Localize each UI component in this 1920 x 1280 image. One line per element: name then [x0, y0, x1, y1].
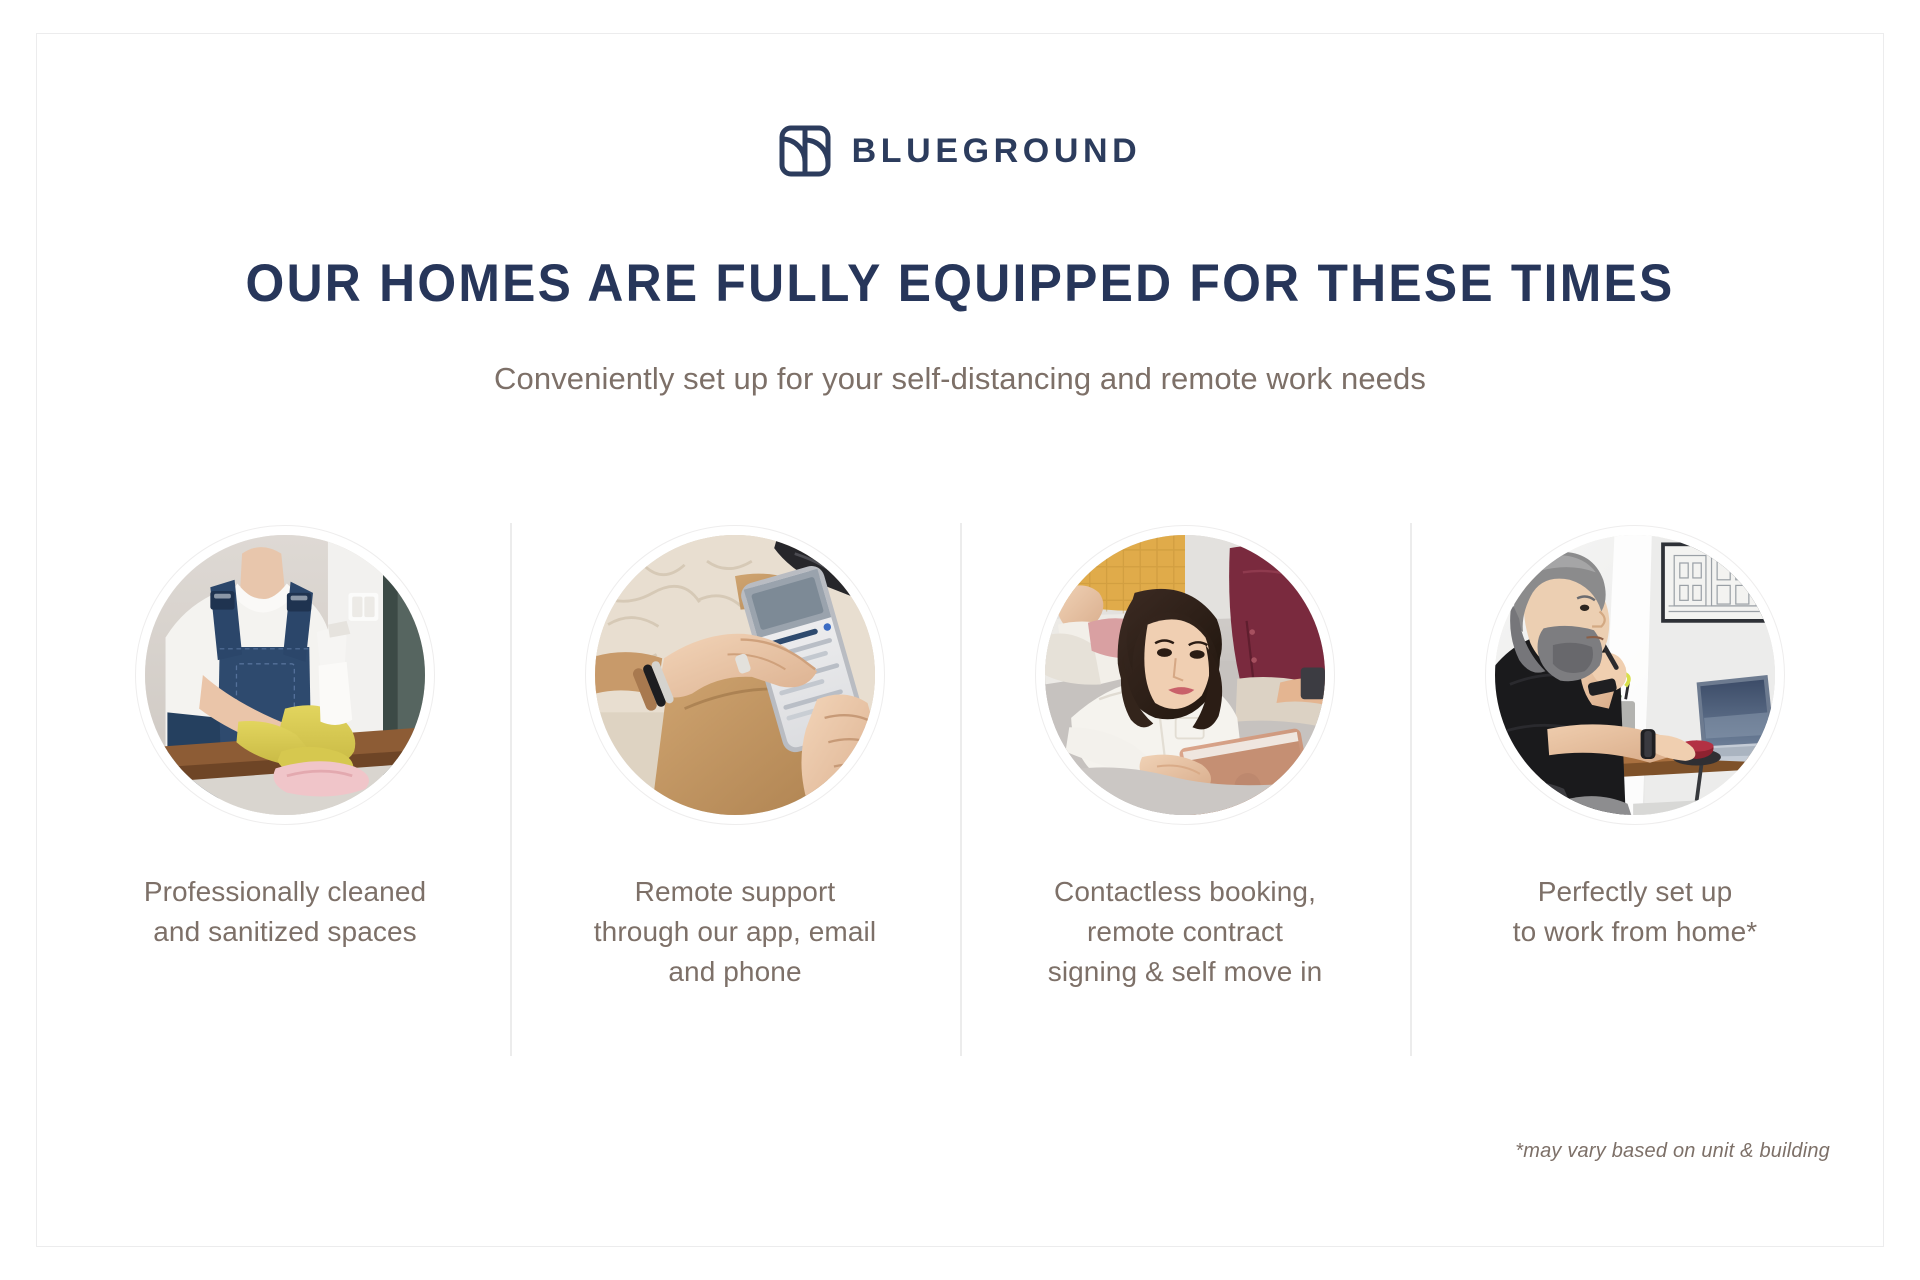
feature-item-remote-support: Remote support through our app, email an…: [510, 525, 960, 991]
caption-line: and phone: [594, 952, 876, 992]
feature-image-ring: [1035, 525, 1335, 825]
caption-line: to work from home*: [1513, 912, 1758, 952]
feature-image-ring: [135, 525, 435, 825]
feature-list: Professionally cleaned and sanitized spa…: [60, 525, 1860, 991]
feature-item-cleaning: Professionally cleaned and sanitized spa…: [60, 525, 510, 952]
caption-line: and sanitized spaces: [144, 912, 426, 952]
work-from-home-photo: [1495, 535, 1775, 815]
caption-line: Professionally cleaned: [144, 872, 426, 912]
blueground-square-logo-icon: [779, 125, 831, 177]
caption-line: through our app, email: [594, 912, 876, 952]
footnote-disclaimer: *may vary based on unit & building: [1515, 1140, 1830, 1163]
feature-image-ring: [585, 525, 885, 825]
caption-line: Perfectly set up: [1513, 872, 1758, 912]
page-title: OUR HOMES ARE FULLY EQUIPPED FOR THESE T…: [58, 255, 1863, 313]
feature-caption: Contactless booking, remote contract sig…: [1048, 872, 1323, 991]
feature-item-work-from-home: Perfectly set up to work from home*: [1410, 525, 1860, 952]
feature-image-ring: [1485, 525, 1785, 825]
brand-logo: BLUEGROUND: [0, 125, 1920, 177]
promo-poster: BLUEGROUND OUR HOMES ARE FULLY EQUIPPED …: [0, 0, 1920, 1280]
caption-line: Contactless booking,: [1048, 872, 1323, 912]
caption-line: signing & self move in: [1048, 952, 1323, 992]
brand-wordmark: BLUEGROUND: [852, 134, 1142, 168]
feature-caption: Professionally cleaned and sanitized spa…: [144, 872, 426, 952]
caption-line: Remote support: [594, 872, 876, 912]
feature-item-contactless-booking: Contactless booking, remote contract sig…: [960, 525, 1410, 991]
caption-line: remote contract: [1048, 912, 1323, 952]
cleaning-photo: [145, 535, 425, 815]
contactless-booking-photo: [1045, 535, 1325, 815]
feature-caption: Remote support through our app, email an…: [594, 872, 876, 991]
phone-support-photo: [595, 535, 875, 815]
page-subtitle: Conveniently set up for your self-distan…: [0, 360, 1920, 399]
feature-caption: Perfectly set up to work from home*: [1513, 872, 1758, 952]
